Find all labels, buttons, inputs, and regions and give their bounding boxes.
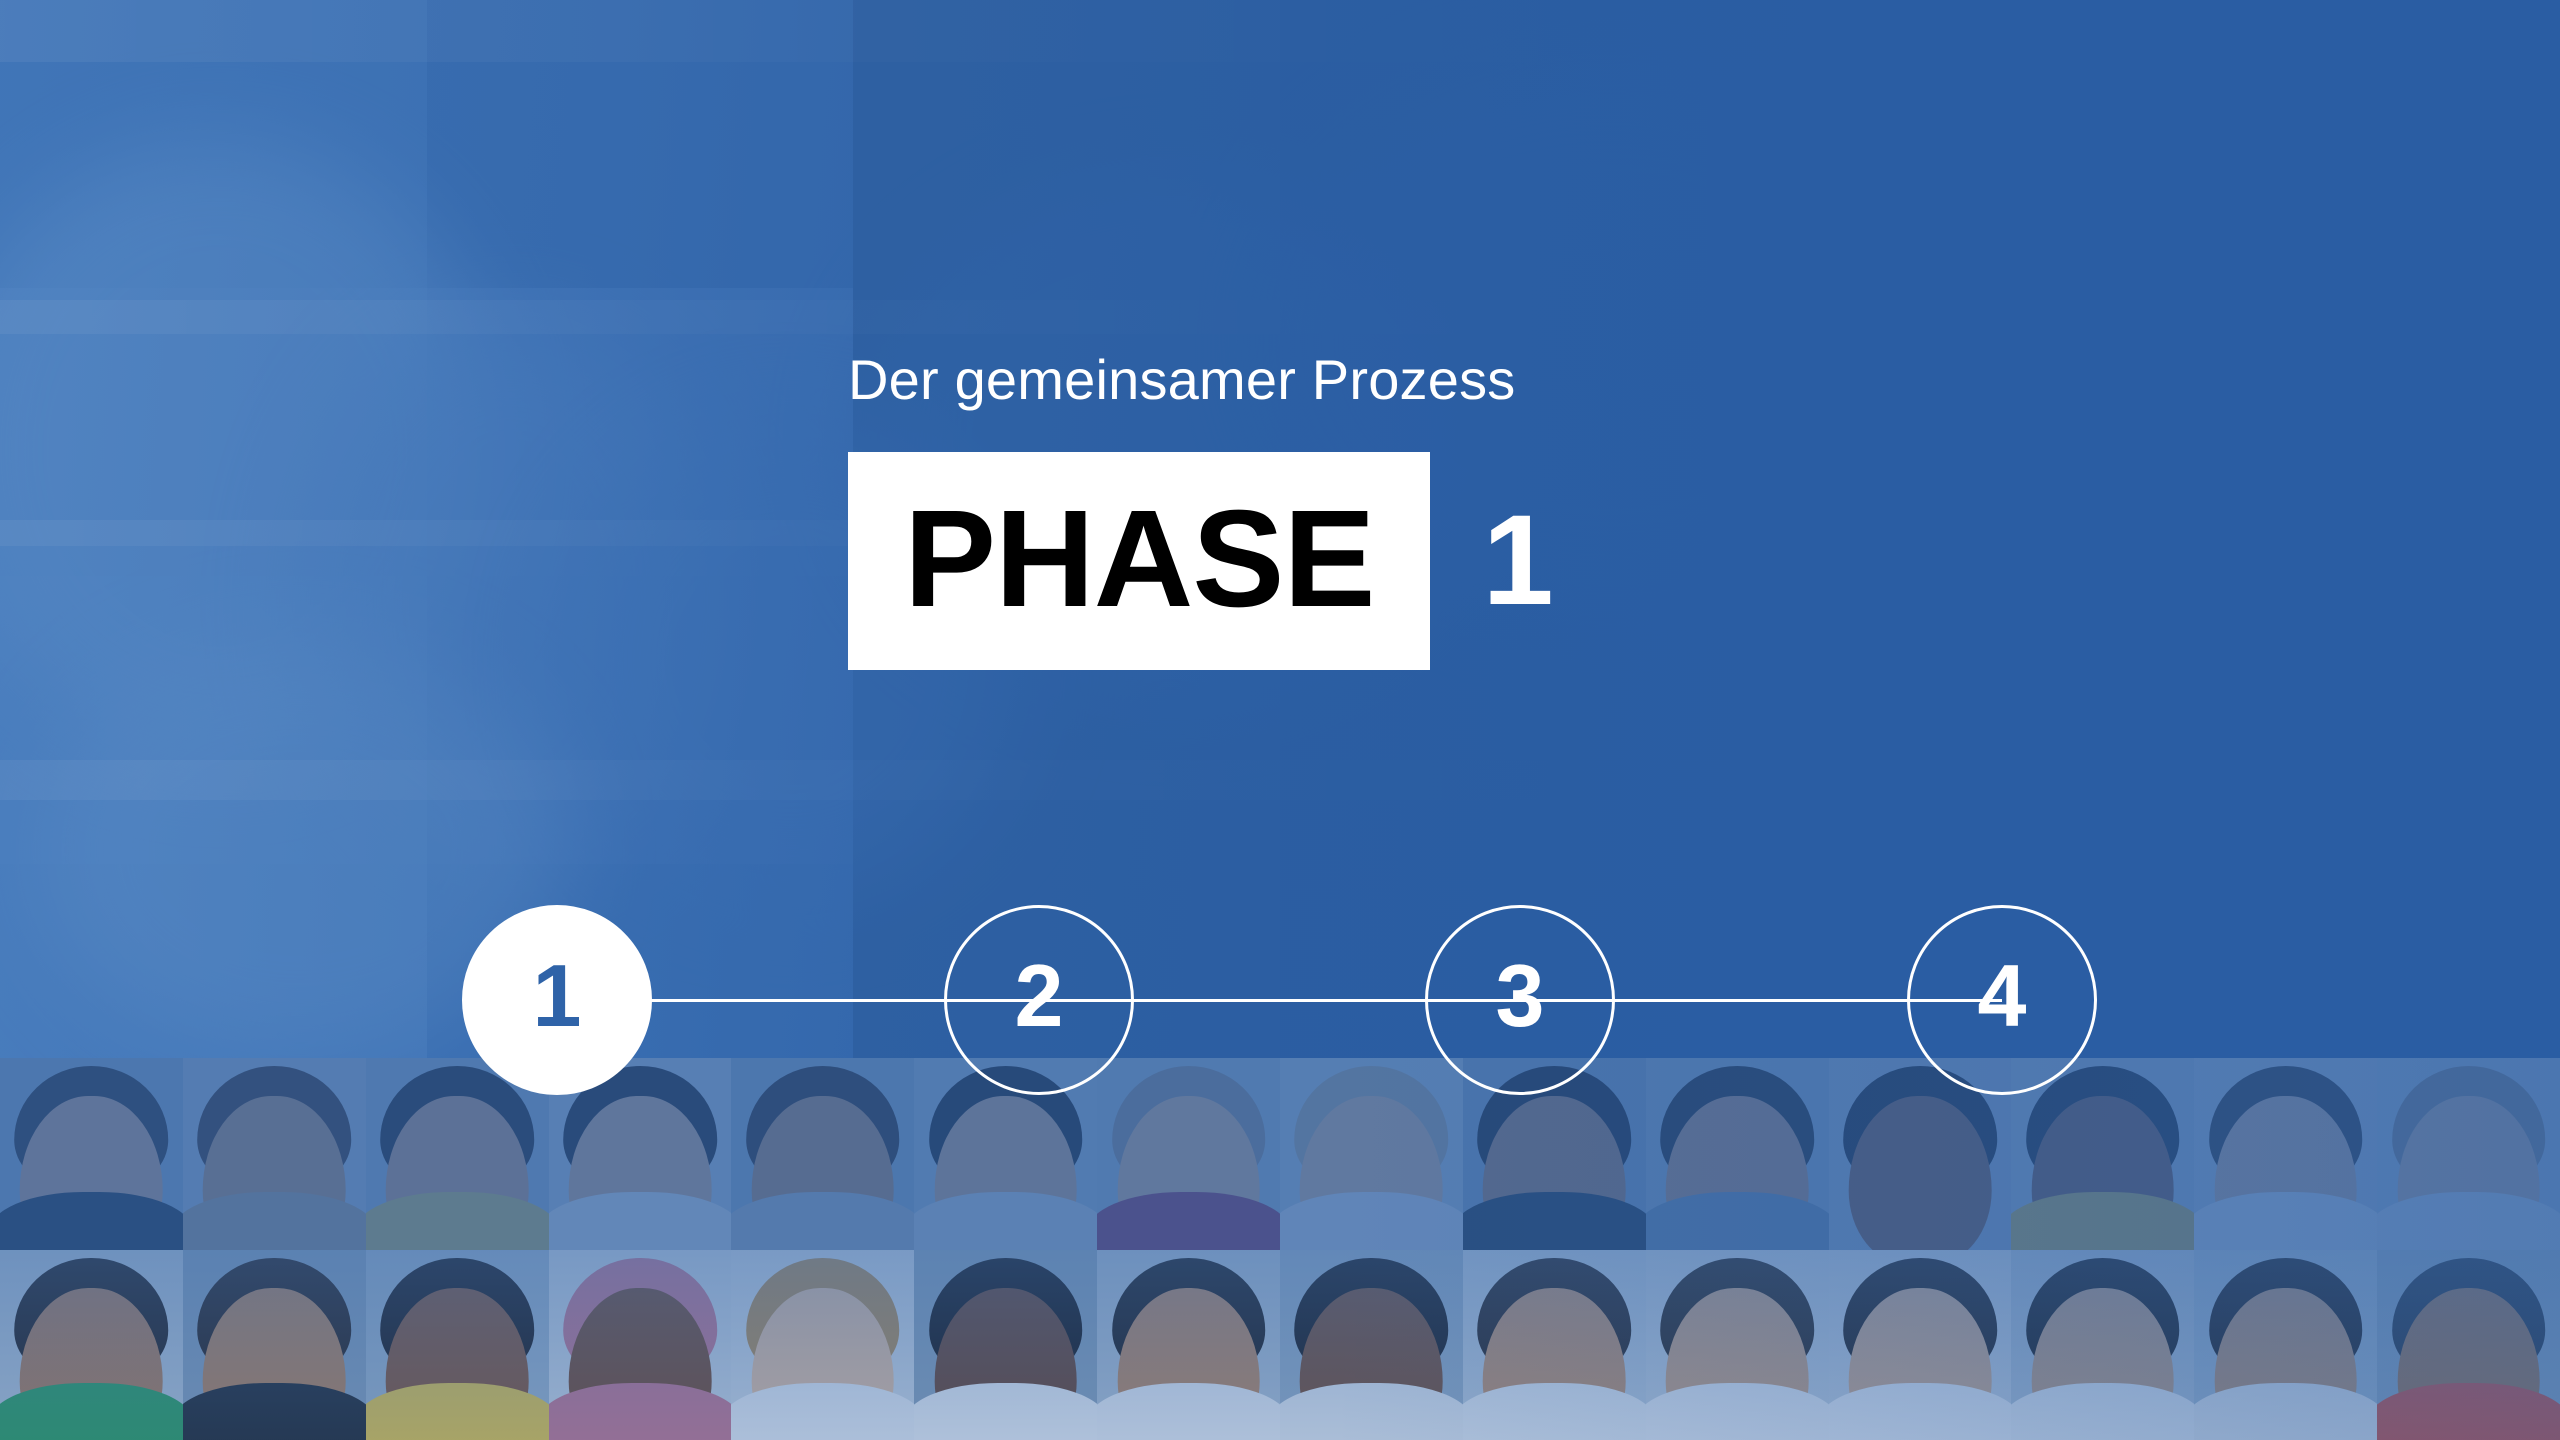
step-number-2: 2 [1015, 952, 1064, 1040]
portrait-tile [1829, 1250, 2012, 1440]
step-number-4: 4 [1978, 952, 2027, 1040]
step-number-1: 1 [533, 952, 582, 1040]
stepper-connector-line [558, 999, 2002, 1002]
portrait-tile [2377, 1250, 2560, 1440]
portrait-tile [2011, 1250, 2194, 1440]
step-indicator-3[interactable]: 3 [1425, 905, 1615, 1095]
collage-row-bottom [0, 1250, 2560, 1440]
portrait-tile [1463, 1250, 1646, 1440]
portrait-tile [2194, 1250, 2377, 1440]
portrait-tile [0, 1250, 183, 1440]
slide-subtitle: Der gemeinsamer Prozess [848, 352, 1554, 408]
portrait-tile [914, 1250, 1097, 1440]
phase-slide: Der gemeinsamer Prozess PHASE 1 1 2 3 4 [0, 0, 2560, 1440]
portrait-tile [366, 1250, 549, 1440]
step-indicator-4[interactable]: 4 [1907, 905, 2097, 1095]
portrait-tile [0, 1058, 183, 1250]
portrait-tile [549, 1250, 732, 1440]
portrait-tile [2194, 1058, 2377, 1250]
portrait-collage [0, 1058, 2560, 1440]
step-indicator-1[interactable]: 1 [462, 905, 652, 1095]
phase-label: PHASE [848, 452, 1430, 670]
portrait-tile [1646, 1250, 1829, 1440]
portrait-tile [2377, 1058, 2560, 1250]
step-indicator-2[interactable]: 2 [944, 905, 1134, 1095]
phase-number: 1 [1482, 497, 1553, 625]
portrait-tile [183, 1058, 366, 1250]
phase-title-row: PHASE 1 [848, 452, 1554, 670]
headline-block: Der gemeinsamer Prozess PHASE 1 [848, 352, 1554, 670]
step-number-3: 3 [1496, 952, 1545, 1040]
portrait-tile [1097, 1250, 1280, 1440]
portrait-tile [731, 1250, 914, 1440]
phase-stepper: 1 2 3 4 [462, 905, 2098, 1097]
portrait-tile [1280, 1250, 1463, 1440]
portrait-tile [183, 1250, 366, 1440]
